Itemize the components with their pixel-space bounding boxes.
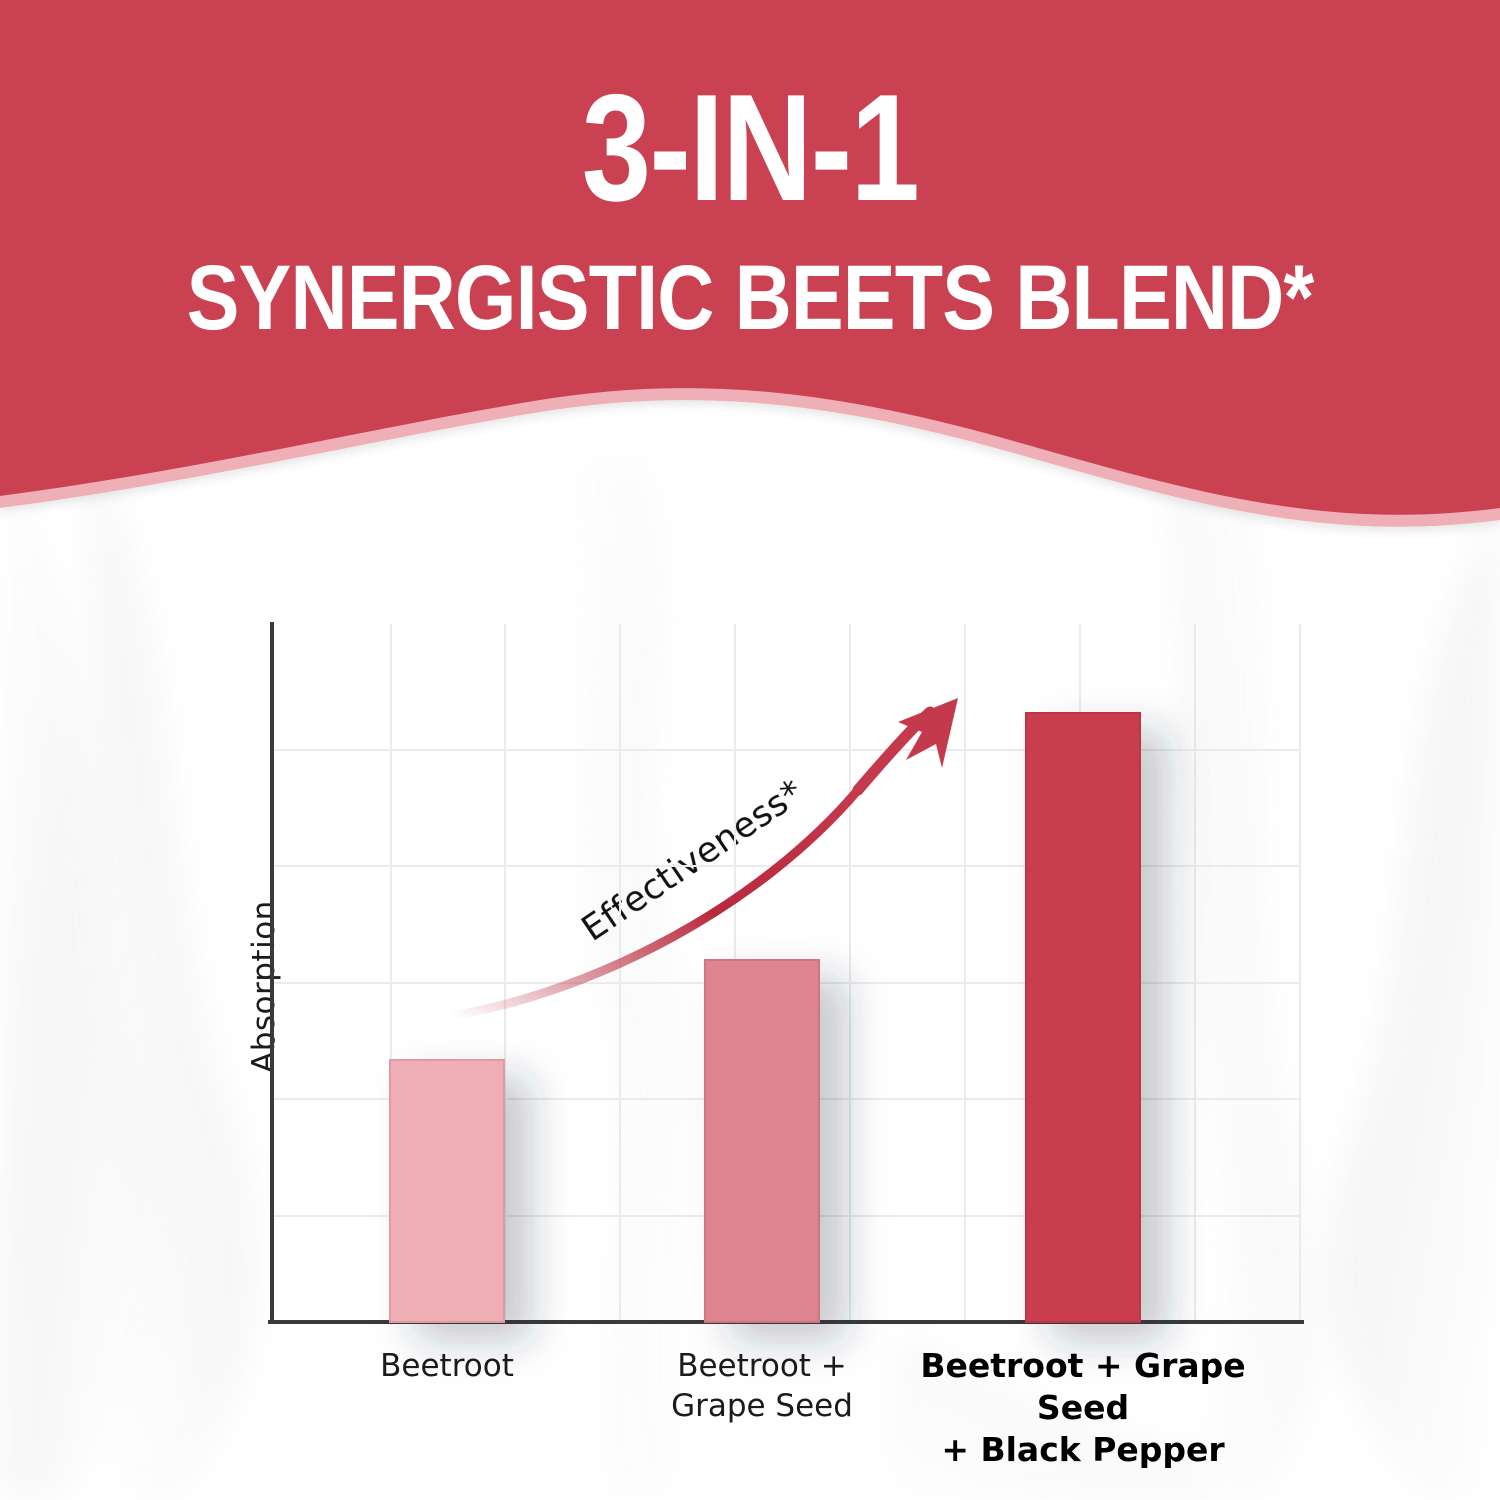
header-wave-band (0, 0, 1500, 560)
wave-red-fill (0, 0, 1500, 515)
bar-beetroot-grape-seed-black-pepper (1026, 713, 1140, 1322)
chart-bars (390, 713, 1140, 1322)
bar-beetroot-grape-seed (705, 960, 819, 1322)
product-infographic: 3-IN-1 SYNERGISTIC BEETS BLEND* (0, 0, 1500, 1500)
bar-beetroot (390, 1060, 504, 1322)
